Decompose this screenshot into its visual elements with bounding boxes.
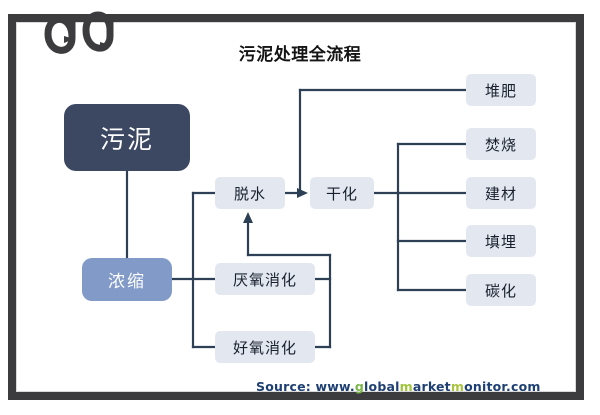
node-dewater[interactable]: 脱水 (215, 177, 285, 209)
node-carbonize-label: 碳化 (485, 280, 517, 301)
arrowhead-into-dewater (243, 212, 253, 223)
node-building-label: 建材 (485, 183, 517, 204)
node-thicken-label: 浓缩 (108, 267, 146, 292)
source-g1: g (355, 379, 364, 394)
node-dry-label: 干化 (326, 183, 358, 204)
source-attribution: Source: www.globalmarketmonitor.com (256, 379, 541, 394)
source-prefix: Source: www. (256, 379, 355, 394)
source-arket: arket (413, 379, 451, 394)
node-dry[interactable]: 干化 (310, 177, 374, 209)
node-aerobic-label: 好氧消化 (233, 337, 297, 358)
node-compost-label: 堆肥 (485, 80, 517, 101)
arrowhead-into-dry (297, 188, 308, 198)
node-sludge[interactable]: 污泥 (64, 104, 190, 171)
source-m1: m (400, 379, 413, 394)
node-sludge-label: 污泥 (100, 120, 154, 156)
node-incinerate-label: 焚烧 (485, 134, 517, 155)
node-thicken[interactable]: 浓缩 (82, 258, 172, 301)
node-aerobic[interactable]: 好氧消化 (215, 331, 315, 363)
node-landfill-label: 填埋 (485, 231, 517, 252)
source-m2: m (451, 379, 464, 394)
source-onitor: onitor.com (464, 379, 541, 394)
source-lobal: lobal (364, 379, 400, 394)
node-dewater-label: 脱水 (234, 183, 266, 204)
node-anaerobic-label: 厌氧消化 (233, 269, 297, 290)
diagram-canvas: 污泥处理全流程 (0, 0, 600, 415)
node-carbonize[interactable]: 碳化 (466, 274, 536, 306)
node-building[interactable]: 建材 (466, 177, 536, 209)
node-incinerate[interactable]: 焚烧 (466, 128, 536, 160)
node-compost[interactable]: 堆肥 (466, 74, 536, 106)
node-anaerobic[interactable]: 厌氧消化 (215, 263, 315, 295)
node-landfill[interactable]: 填埋 (466, 225, 536, 257)
